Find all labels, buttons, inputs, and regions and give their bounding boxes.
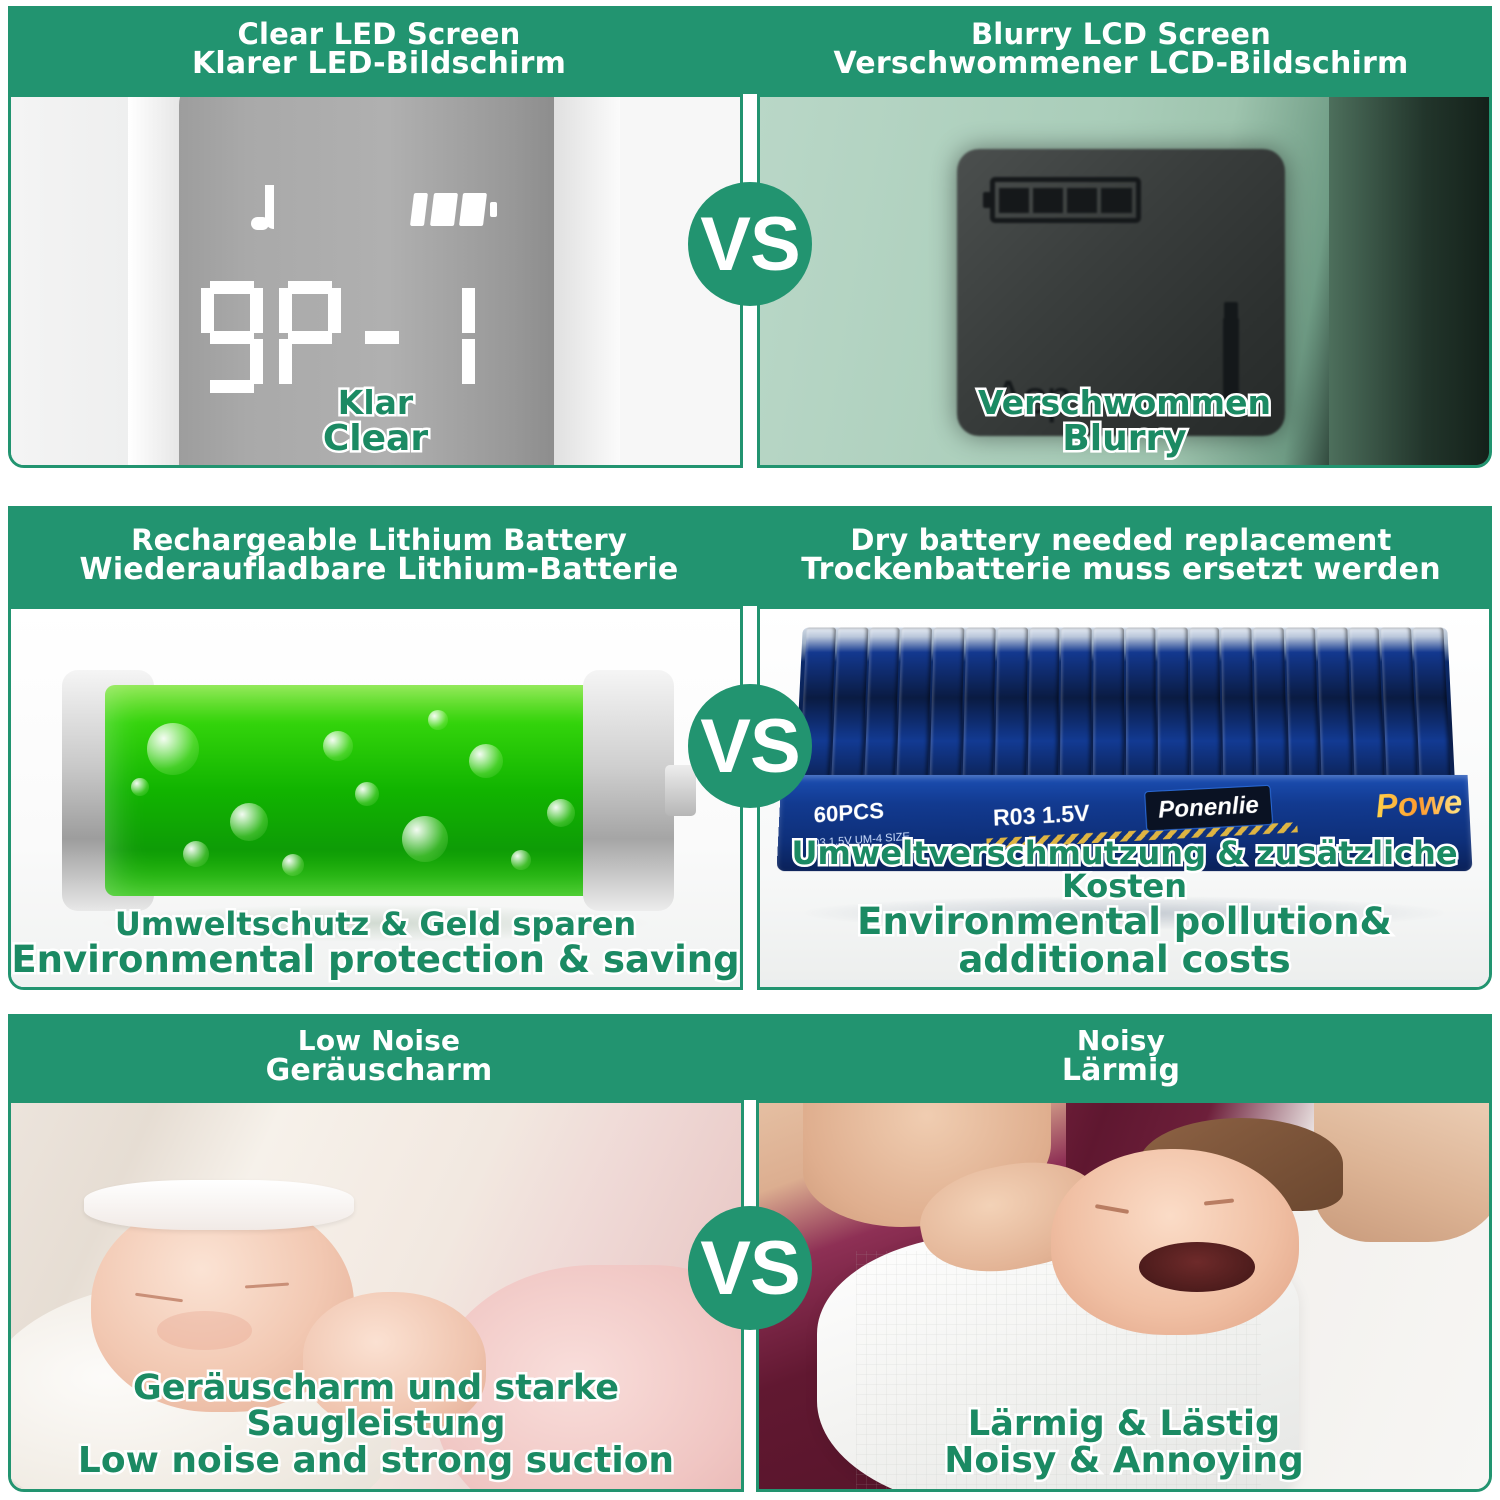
row3-header-band: Low Noise Geräuscharm Noisy Lärmig: [8, 1014, 1492, 1100]
pack-count-label: 60PCS: [814, 797, 885, 828]
moon-icon: [255, 185, 285, 237]
row2-left-title-de: Wiederaufladbare Lithium-Batterie: [80, 555, 679, 586]
row1-left-title-de: Klarer LED-Bildschirm: [192, 49, 566, 80]
caption-eco-en: Environmental protection & saving: [11, 941, 740, 979]
comparison-row-noise: Low Noise Geräuscharm Noisy Lärmig: [8, 1014, 1492, 1492]
caption-noisy-en: Noisy & Annoying: [759, 1442, 1489, 1479]
battery-green-core: [105, 685, 626, 897]
vs-badge-row2: VS: [688, 684, 812, 808]
caption-pollution-de: Umweltverschmutzung & zusätzliche Kosten: [760, 837, 1489, 903]
caption-blurry-de: Verschwommen: [760, 386, 1489, 420]
battery-full-icon: [990, 177, 1141, 223]
row3-left-title-de: Geräuscharm: [266, 1056, 493, 1087]
row2-right-header: Dry battery needed replacement Trockenba…: [750, 506, 1492, 606]
caption-blurry-en: Blurry: [760, 420, 1489, 457]
panel-blurry-lcd-screen: Asp Verschwommen Blurry: [757, 94, 1492, 468]
pack-wordmark: Powe: [1374, 782, 1464, 825]
battery-cap-right: [583, 670, 675, 911]
comparison-infographic: Clear LED Screen Klarer LED-Bildschirm B…: [0, 0, 1500, 1500]
crying-baby-head: [1051, 1149, 1299, 1334]
row2-left-title-en: Rechargeable Lithium Battery: [131, 526, 627, 556]
caption-clear-de: Klar: [11, 386, 740, 420]
row2-right-title-en: Dry battery needed replacement: [850, 526, 1391, 556]
pack-brand-badge: Ponenlie: [1144, 785, 1273, 832]
row3-right-title-de: Lärmig: [1062, 1056, 1180, 1087]
caption-low-noise: Geräuscharm und starke Saugleistung Low …: [11, 1370, 741, 1479]
row2-left-header: Rechargeable Lithium Battery Wiederaufla…: [8, 506, 750, 606]
baby-headband: [84, 1180, 354, 1230]
caption-low-noise-de: Geräuscharm und starke Saugleistung: [11, 1370, 741, 1442]
caption-noisy-de: Lärmig & Lästig: [759, 1406, 1489, 1442]
panel-rechargeable-lithium: Umweltschutz & Geld sparen Environmental…: [8, 606, 743, 990]
row2-header-band: Rechargeable Lithium Battery Wiederaufla…: [8, 506, 1492, 606]
caption-clear: Klar Clear: [11, 386, 740, 457]
row1-right-title-de: Verschwommener LCD-Bildschirm: [834, 49, 1409, 80]
panel-dry-battery: 60PCS R03 1.5V UM-4 SIZE R03 1.5V Ponenl…: [757, 606, 1492, 990]
comparison-row-battery: Rechargeable Lithium Battery Wiederaufla…: [8, 506, 1492, 990]
vs-badge-row3: VS: [688, 1206, 812, 1330]
caption-low-noise-en: Low noise and strong suction: [11, 1442, 741, 1479]
row3-right-title-en: Noisy: [1077, 1027, 1165, 1056]
panel-clear-led-screen: Klar Clear: [8, 94, 743, 468]
row2-right-title-de: Trockenbatterie muss ersetzt werden: [801, 555, 1441, 586]
row1-right-header: Blurry LCD Screen Verschwommener LCD-Bil…: [750, 6, 1492, 94]
row1-header-band: Clear LED Screen Klarer LED-Bildschirm B…: [8, 6, 1492, 94]
caption-blurry: Verschwommen Blurry: [760, 386, 1489, 457]
crying-mouth: [1139, 1242, 1256, 1292]
caption-pollution-costs: Umweltverschmutzung & zusätzliche Kosten…: [760, 837, 1489, 979]
panel-noisy: Lärmig & Lästig Noisy & Annoying: [756, 1100, 1492, 1492]
caption-noisy: Lärmig & Lästig Noisy & Annoying: [759, 1406, 1489, 1479]
pack-spec-label: R03 1.5V: [993, 799, 1091, 831]
caption-pollution-en: Environmental pollution& additional cost…: [760, 903, 1489, 979]
vs-badge-row1: VS: [688, 182, 812, 306]
row1-left-title-en: Clear LED Screen: [238, 20, 521, 50]
caption-eco-de: Umweltschutz & Geld sparen: [11, 908, 740, 941]
pack-brand-label: Ponenlie: [1158, 792, 1260, 824]
battery-full-icon: [412, 193, 494, 226]
row3-left-header: Low Noise Geräuscharm: [8, 1014, 750, 1100]
row3-right-header: Noisy Lärmig: [750, 1014, 1492, 1100]
caption-eco-saving: Umweltschutz & Geld sparen Environmental…: [11, 908, 740, 979]
panel-low-noise: Geräuscharm und starke Saugleistung Low …: [8, 1100, 744, 1492]
comparison-row-screen: Clear LED Screen Klarer LED-Bildschirm B…: [8, 6, 1492, 468]
row1-left-header: Clear LED Screen Klarer LED-Bildschirm: [8, 6, 750, 94]
row1-right-title-en: Blurry LCD Screen: [971, 20, 1271, 50]
row3-left-title-en: Low Noise: [298, 1027, 460, 1056]
battery-terminal: [665, 765, 696, 816]
caption-clear-en: Clear: [11, 420, 740, 457]
